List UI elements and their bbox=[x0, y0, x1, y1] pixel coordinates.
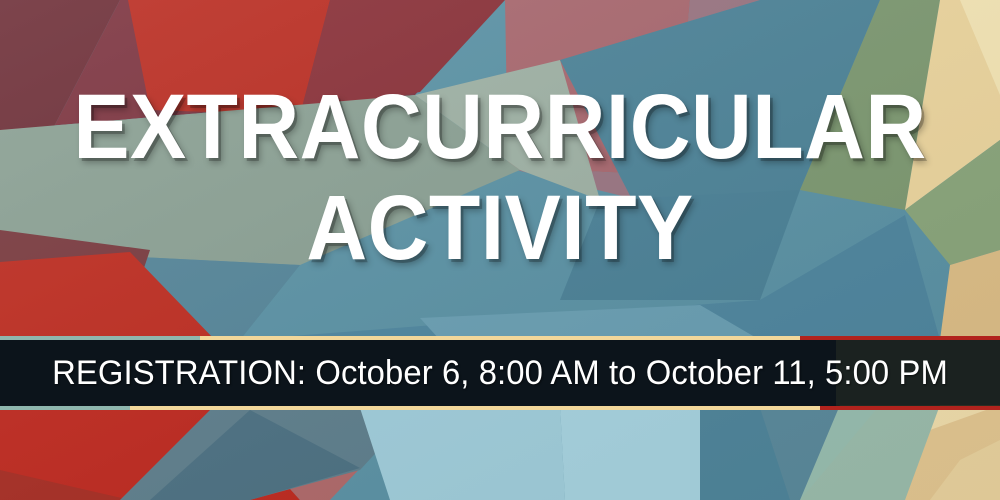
registration-bar-top-rule bbox=[0, 336, 1000, 340]
registration-bar-bottom-rule bbox=[0, 406, 1000, 410]
banner-canvas: EXTRACURRICULAR ACTIVITY REGISTRATION: O… bbox=[0, 0, 1000, 500]
registration-bar: REGISTRATION: October 6, 8:00 AM to Octo… bbox=[0, 336, 1000, 410]
bottom-rule-segment-teal bbox=[0, 406, 130, 410]
background-polygon-mosaic bbox=[0, 0, 1000, 500]
bottom-rule-segment-red bbox=[820, 406, 1000, 410]
top-rule-segment-red bbox=[800, 336, 1000, 340]
top-rule-segment-sand bbox=[200, 336, 800, 340]
top-rule-segment-teal bbox=[0, 336, 200, 340]
registration-bar-inner-fill bbox=[0, 339, 836, 407]
bottom-rule-segment-sand bbox=[130, 406, 820, 410]
